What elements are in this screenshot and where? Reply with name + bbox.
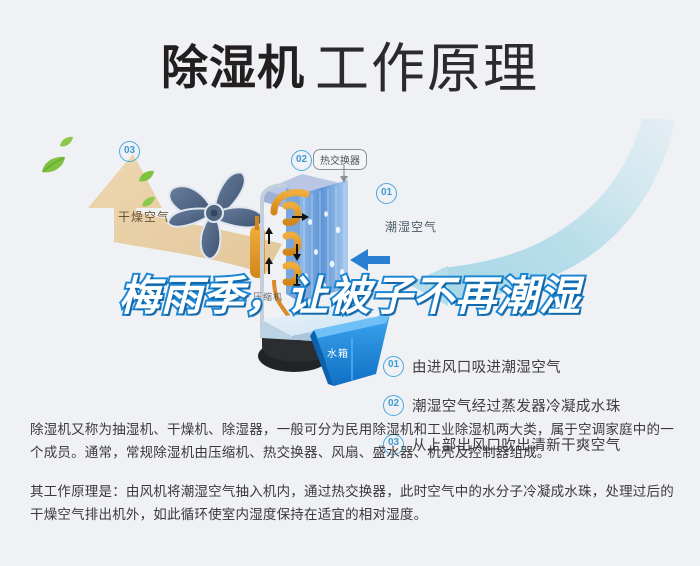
legend-text-01: 由进风口吸进潮湿空气: [412, 356, 561, 377]
badge-dry-air: 03: [119, 141, 140, 162]
leaf-icon: [40, 156, 66, 174]
water-tank-label: 水箱: [327, 345, 349, 360]
legend-badge-02: 02: [383, 395, 404, 416]
callout-pointer-icon: [338, 165, 350, 183]
badge-humid-air: 01: [376, 183, 397, 204]
infographic-page: 除湿机工作原理: [0, 0, 700, 566]
paragraph-1: 除湿机又称为抽湿机、干燥机、除湿器，一般可分为民用除湿机和工业除湿机两大类，属于…: [30, 418, 675, 464]
legend-text-02: 潮湿空气经过蒸发器冷凝成水珠: [412, 395, 621, 416]
page-title: 除湿机工作原理: [0, 24, 700, 103]
paragraph-2: 其工作原理是：由风机将潮湿空气抽入机内，通过热交换器，此时空气中的水分子冷凝成水…: [30, 480, 675, 526]
badge-heat-exchanger: 02: [291, 150, 312, 171]
diagram-stage: 干燥空气 03: [0, 108, 700, 408]
title-strong-part: 除湿机: [161, 41, 305, 94]
title-light-part: 工作原理: [315, 39, 539, 99]
body-copy: 除湿机又称为抽湿机、干燥机、除湿器，一般可分为民用除湿机和工业除湿机两大类，属于…: [30, 418, 675, 542]
legend-item: 02 潮湿空气经过蒸发器冷凝成水珠: [383, 395, 683, 416]
compressor-label: 压缩机: [253, 290, 283, 303]
legend-item: 01 由进风口吸进潮湿空气: [383, 356, 683, 377]
leaf-icon: [59, 136, 74, 148]
leaf-icon: [138, 170, 155, 183]
humid-air-label: 潮湿空气: [385, 218, 437, 235]
leaf-icon: [141, 196, 156, 208]
legend-badge-01: 01: [383, 356, 404, 377]
